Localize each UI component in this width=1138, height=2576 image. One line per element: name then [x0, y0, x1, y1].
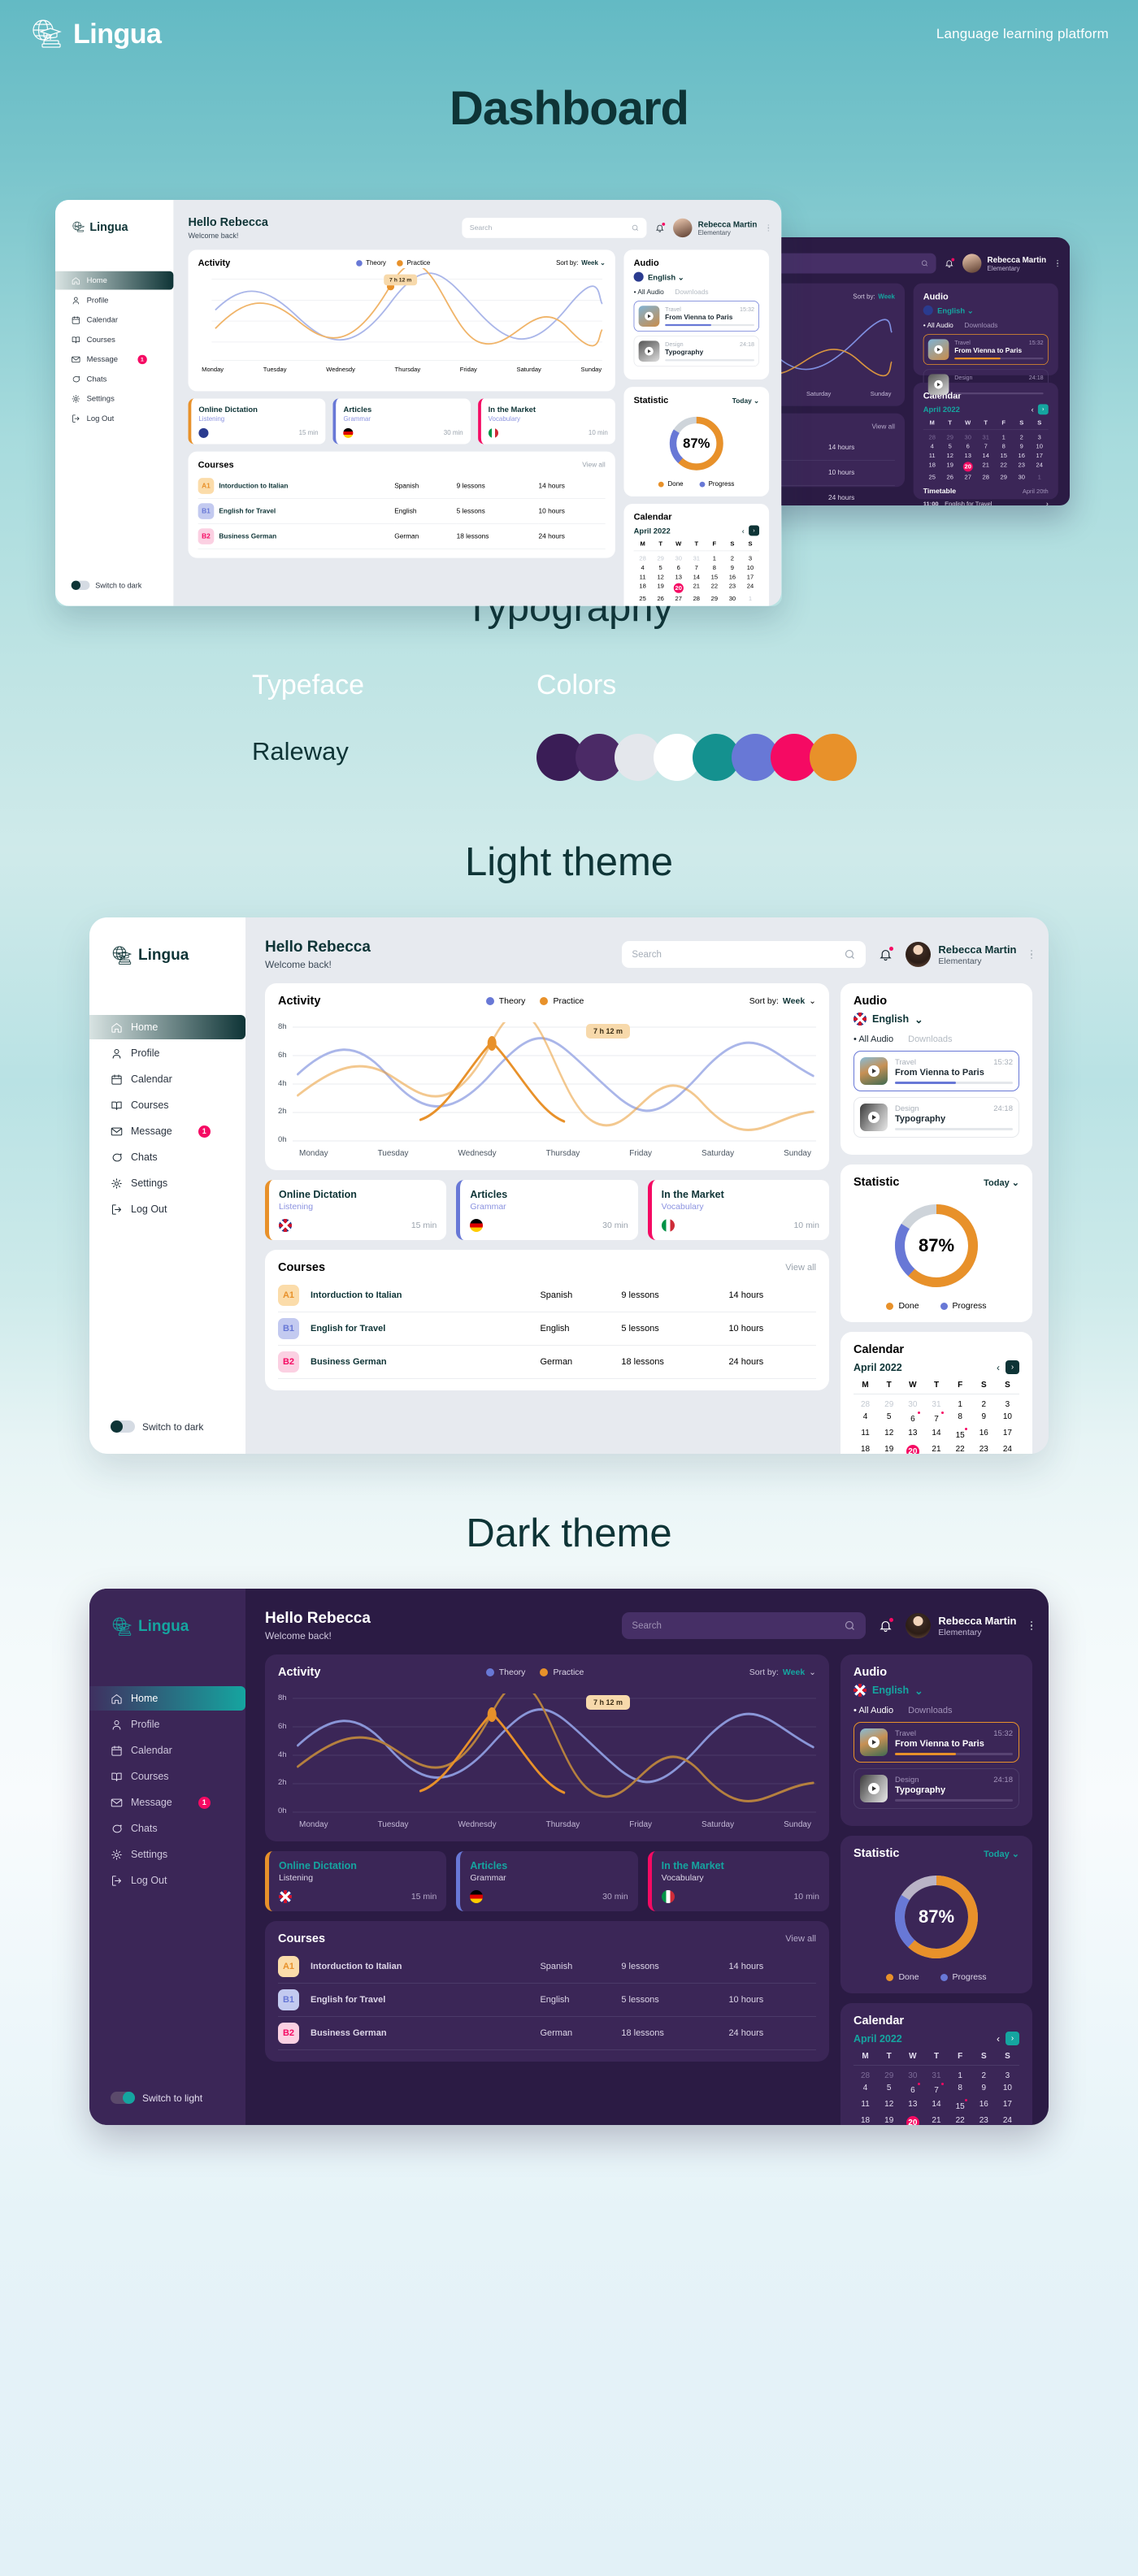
course-level-badge: B1 [278, 1318, 299, 1339]
calendar-day[interactable]: 7 [924, 2084, 948, 2097]
search-icon [844, 1620, 856, 1632]
audio-track[interactable]: Design24:18 Typography [853, 1768, 1019, 1809]
weekday-label: S [972, 1381, 996, 1394]
course-name: Intorduction to Italian [311, 1279, 540, 1312]
chat-icon [111, 1823, 123, 1835]
audio-card: Audio English ⌄ • All Audio Downloads [840, 983, 1032, 1155]
sidebar-item-profile[interactable]: Profile [55, 291, 173, 310]
calendar-day[interactable]: 19 [877, 1445, 901, 1454]
sidebar-item-label: Profile [87, 296, 109, 305]
tab-downloads[interactable]: Downloads [908, 1706, 952, 1715]
weekday-label: T [924, 2052, 948, 2066]
sidebar-item-settings[interactable]: Settings [55, 389, 173, 408]
task-card[interactable]: Articles Grammar 30 min [456, 1180, 637, 1240]
globe-books-logo-icon [111, 945, 132, 966]
avatar [906, 942, 931, 967]
sidebar-item-settings[interactable]: Settings [89, 1171, 245, 1195]
statistic-period[interactable]: Today ⌄ [984, 1177, 1019, 1188]
task-subtitle: Vocabulary [662, 1873, 819, 1883]
y-tick-8h: 8h [278, 1693, 287, 1702]
sidebar-item-label: Home [87, 276, 107, 285]
audio-language-value: English [872, 1685, 909, 1696]
colors-label: Colors [536, 670, 857, 701]
brand-name: Lingua [73, 19, 161, 50]
sidebar-item-calendar[interactable]: Calendar [89, 1738, 245, 1763]
track-thumbnail [860, 1104, 888, 1131]
statistic-title: Statistic [853, 1176, 899, 1189]
mail-icon [72, 354, 80, 363]
x-tick-6: Sunday [784, 1149, 811, 1158]
course-name: Business German [311, 2017, 540, 2050]
sort-by-label: Sort by: [749, 996, 779, 1006]
calendar-next-button[interactable]: › [1006, 1360, 1019, 1374]
course-hours: 14 hours [728, 1950, 816, 1984]
track-category: Travel [895, 1729, 916, 1738]
book-icon [72, 335, 80, 344]
play-icon[interactable] [868, 1065, 880, 1077]
calendar-day[interactable]: 9 [972, 1412, 996, 1425]
sidebar-item-label: Courses [131, 1099, 169, 1111]
track-progress[interactable] [895, 1753, 1013, 1755]
gear-icon [111, 1177, 123, 1190]
notification-bell[interactable] [879, 1619, 893, 1633]
sidebar-item-label: Calendar [87, 315, 118, 324]
calendar-day[interactable]: 16 [972, 1429, 996, 1442]
task-title: Online Dictation [279, 1189, 437, 1200]
sidebar-brand-name: Lingua [138, 947, 189, 965]
calendar-day[interactable]: 5 [877, 2084, 901, 2097]
course-level-badge: B2 [278, 2023, 299, 2044]
y-tick-6h: 6h [278, 1722, 287, 1731]
brand-logo[interactable]: Lingua [29, 18, 161, 50]
sidebar-item-message[interactable]: Message1 [55, 350, 173, 369]
calendar-day[interactable]: 14 [924, 1429, 948, 1442]
audio-language-select[interactable]: English ⌄ [853, 1684, 1019, 1697]
task-card[interactable]: In the Market Vocabulary 10 min [648, 1180, 829, 1240]
course-language: Spanish [540, 1950, 621, 1984]
task-title: In the Market [662, 1189, 819, 1200]
tab-downloads[interactable]: Downloads [908, 1034, 952, 1044]
sidebar-item-label: Home [131, 1021, 158, 1033]
task-duration: 15 min [411, 1892, 437, 1902]
x-tick-6: Sunday [784, 1820, 811, 1829]
courses-card: Courses View all A1 Intorduction to Ital… [265, 1250, 829, 1390]
y-tick-0h: 0h [278, 1135, 287, 1144]
calendar-day[interactable]: 16 [972, 2100, 996, 2113]
course-lessons: 9 lessons [621, 1279, 728, 1312]
weekday-label: S [996, 1381, 1019, 1394]
audio-track[interactable]: Travel15:32 From Vienna to Paris [853, 1051, 1019, 1091]
sort-by-control[interactable]: Sort by: Week ⌄ [749, 996, 816, 1006]
weekday-label: W [901, 2052, 924, 2066]
uk-flag-icon [279, 1890, 292, 1903]
dark-theme-dashboard: Lingua HomeProfileCalendarCoursesMessage… [89, 1589, 1049, 2125]
calendar-day[interactable]: 21 [924, 1445, 948, 1454]
calendar-day[interactable]: 11 [853, 2100, 877, 2113]
page-title: Dashboard [0, 81, 1138, 136]
calendar-day[interactable]: 21 [924, 2116, 948, 2125]
dark-theme-title: Dark theme [0, 1511, 1138, 1556]
sidebar-item-profile[interactable]: Profile [89, 1041, 245, 1065]
course-name: English for Travel [311, 1312, 540, 1346]
calendar-day[interactable]: 19 [877, 2116, 901, 2125]
calendar-day[interactable]: 13 [901, 2100, 924, 2113]
calendar-day[interactable]: 1 [949, 1400, 972, 1409]
theme-toggle[interactable] [111, 2092, 135, 2104]
calendar-day[interactable]: 7 [924, 1412, 948, 1425]
sidebar-item-label: Log Out [131, 1875, 167, 1886]
statistic-card: Statistic Today ⌄ 87% Don [840, 1836, 1032, 1993]
track-progress[interactable] [895, 1799, 1013, 1802]
task-subtitle: Grammar [470, 1873, 628, 1883]
y-tick-4h: 4h [278, 1750, 287, 1759]
main-content-dark: Hello Rebecca Welcome back! [245, 1589, 1049, 2125]
audio-language-select[interactable]: English ⌄ [853, 1013, 1019, 1026]
course-lessons: 5 lessons [621, 1312, 728, 1346]
logout-icon [111, 1203, 123, 1216]
y-tick-8h: 8h [278, 1022, 287, 1031]
sidebar-item-label: Settings [131, 1177, 167, 1189]
theme-switch-dark[interactable]: Switch to light [89, 2092, 245, 2125]
calendar-day[interactable]: 4 [853, 1412, 877, 1425]
calendar-day[interactable]: 30 [901, 1400, 924, 1409]
calendar-day[interactable]: 31 [924, 1400, 948, 1409]
table-row[interactable]: A1 Intorduction to Italian Spanish 9 les… [278, 1279, 816, 1312]
courses-card: Courses View all A1 Intorduction to Ital… [265, 1921, 829, 2062]
sidebar-logo[interactable]: Lingua [89, 1616, 245, 1637]
sidebar-item-log-out[interactable]: Log Out [89, 1868, 245, 1893]
calendar-day[interactable]: 3 [996, 2071, 1019, 2080]
chart-tooltip: 7 h 12 m [586, 1024, 630, 1039]
more-options-icon[interactable] [1031, 1621, 1033, 1631]
theme-switch-light[interactable]: Switch to dark [89, 1420, 245, 1454]
task-duration: 10 min [793, 1221, 819, 1230]
task-duration: 15 min [411, 1221, 437, 1230]
calendar-day[interactable]: 28 [853, 1400, 877, 1409]
calendar-day[interactable]: 23 [972, 2116, 996, 2125]
sidebar-item-chats[interactable]: Chats [55, 370, 173, 388]
calendar-day[interactable]: 15 [949, 1429, 972, 1442]
track-name: Typography [895, 1114, 1013, 1124]
calendar-day[interactable]: 14 [924, 2100, 948, 2113]
courses-view-all[interactable]: View all [785, 1263, 816, 1273]
courses-table: A1 Intorduction to Italian Spanish 9 les… [278, 1950, 816, 2050]
play-icon[interactable] [868, 1112, 880, 1123]
calendar-day[interactable]: 6 [901, 2084, 924, 2097]
track-name: Typography [895, 1785, 1013, 1795]
calendar-day[interactable]: 23 [972, 1445, 996, 1454]
chart-legend: Theory Practice [486, 996, 584, 1006]
table-row[interactable]: B1 English for Travel English 5 lessons … [278, 1984, 816, 2017]
uk-flag-icon [853, 1013, 867, 1026]
x-tick-1: Tuesday [378, 1820, 409, 1829]
sidebar-item-label: Courses [87, 336, 115, 345]
sidebar-item-label: Home [131, 1693, 158, 1704]
task-duration: 10 min [793, 1892, 819, 1902]
table-row[interactable]: B2 Business German German 18 lessons 24 … [278, 1346, 816, 1379]
legend-practice: Practice [540, 996, 584, 1006]
weekday-label: S [996, 2052, 1019, 2066]
calendar-day[interactable]: 5 [877, 1412, 901, 1425]
legend-progress: Progress [940, 1972, 987, 1982]
table-row[interactable]: B1 English for Travel English 5 lessons … [278, 1312, 816, 1346]
calendar-day[interactable]: 13 [901, 1429, 924, 1442]
calendar-day[interactable]: 2 [972, 1400, 996, 1409]
activity-title: Activity [278, 1666, 320, 1679]
calendar-day[interactable]: 17 [996, 1429, 1019, 1442]
track-thumbnail [860, 1775, 888, 1802]
play-icon[interactable] [868, 1737, 880, 1748]
calendar-icon [111, 1073, 123, 1086]
activity-card: Activity Theory Practice Sort by: Week ⌄ [265, 1654, 829, 1841]
play-icon[interactable] [868, 1783, 880, 1794]
x-tick-5: Saturday [701, 1149, 734, 1158]
track-category: Design [895, 1104, 919, 1113]
sidebar-item-home[interactable]: Home [89, 1015, 245, 1039]
statistic-title: Statistic [853, 1847, 899, 1860]
calendar-day[interactable]: 18 [853, 1445, 877, 1454]
globe-books-logo-icon [111, 1616, 132, 1637]
user-icon [111, 1719, 123, 1731]
track-progress[interactable] [895, 1082, 1013, 1084]
track-category: Travel [895, 1058, 916, 1067]
sidebar-item-courses[interactable]: Courses [89, 1093, 245, 1117]
track-name: From Vienna to Paris [895, 1068, 1013, 1078]
search-input[interactable] [632, 1621, 839, 1631]
theme-switch-label: Switch to light [142, 2092, 202, 2104]
sidebar-item-home[interactable]: Home [55, 271, 173, 290]
sidebar-item-settings[interactable]: Settings [89, 1842, 245, 1867]
task-subtitle: Listening [279, 1873, 437, 1883]
sidebar-item-calendar[interactable]: Calendar [89, 1067, 245, 1091]
course-name: Business German [311, 1346, 540, 1379]
track-thumbnail [860, 1057, 888, 1085]
greeting: Hello Rebecca [265, 1610, 371, 1628]
course-level-badge: A1 [278, 1956, 299, 1977]
user-icon [111, 1047, 123, 1060]
activity-line-chart [293, 1022, 816, 1144]
mockup-collage: Lingua HomeProfileCalendarCoursesMessage… [0, 187, 1138, 577]
sidebar-logo[interactable]: Lingua [89, 945, 245, 966]
calendar-day[interactable]: 1 [949, 2071, 972, 2080]
tab-all-audio[interactable]: • All Audio [853, 1706, 893, 1715]
x-tick-1: Tuesday [378, 1149, 409, 1158]
course-lessons: 5 lessons [621, 1984, 728, 2017]
book-icon [111, 1099, 123, 1112]
course-hours: 14 hours [728, 1279, 816, 1312]
sort-by-label: Sort by: [749, 1667, 779, 1677]
y-tick-4h: 4h [278, 1079, 287, 1088]
calendar-grid: M T W T F S S 28293031123 45678910 11121… [853, 2052, 1019, 2125]
task-card[interactable]: Online Dictation Listening 15 min [265, 1180, 446, 1240]
user-profile[interactable]: Rebecca Martin Elementary [906, 1613, 1032, 1638]
book-icon [111, 1771, 123, 1783]
calendar-day[interactable]: 15 [949, 2100, 972, 2113]
x-tick-3: Thursday [546, 1149, 580, 1158]
sidebar-nav-dark: HomeProfileCalendarCoursesMessage1ChatsS… [89, 1686, 245, 1893]
avatar [906, 1613, 931, 1638]
calendar-day[interactable]: 30 [901, 2071, 924, 2080]
calendar-day[interactable]: 10 [996, 1412, 1019, 1425]
user-name: Rebecca Martin [938, 1615, 1016, 1627]
sidebar-item-label: Chats [131, 1151, 158, 1163]
swatch-7 [810, 734, 857, 781]
calendar-day[interactable]: 24 [996, 1445, 1019, 1454]
calendar-day[interactable]: 28 [853, 2071, 877, 2080]
sort-by-control[interactable]: Sort by: Week ⌄ [749, 1667, 816, 1677]
calendar-month: April 2022 [853, 2033, 902, 2045]
germany-flag-icon [470, 1890, 483, 1903]
x-tick-4: Friday [629, 1820, 652, 1829]
course-lessons: 9 lessons [621, 1950, 728, 1984]
statistic-value: 87% [919, 1235, 954, 1256]
x-tick-2: Wednesdy [458, 1820, 497, 1829]
task-title: Articles [470, 1189, 628, 1200]
calendar-day[interactable]: 17 [996, 2100, 1019, 2113]
calendar-next-button[interactable]: › [1006, 2032, 1019, 2045]
user-icon [72, 296, 80, 305]
user-level: Elementary [938, 1628, 1016, 1637]
uk-flag-icon [853, 1684, 867, 1697]
calendar-day-selected[interactable]: 20 [901, 1445, 924, 1454]
user-name: Rebecca Martin [938, 943, 1016, 956]
calendar-day[interactable]: 12 [877, 1429, 901, 1442]
globe-books-logo-icon [72, 221, 85, 235]
sidebar-item-chats[interactable]: Chats [89, 1145, 245, 1169]
track-name: From Vienna to Paris [895, 1739, 1013, 1749]
track-thumbnail [860, 1728, 888, 1756]
calendar-day[interactable]: 24 [996, 2116, 1019, 2125]
course-language: English [540, 1312, 621, 1346]
gear-icon [72, 394, 80, 403]
calendar-grid: M T W T F S S 28293031123 45678910 11121… [853, 1381, 1019, 1454]
table-row[interactable]: B2 Business German German 18 lessons 24 … [278, 2017, 816, 2050]
theme-toggle[interactable] [111, 1420, 135, 1433]
course-level-badge: A1 [278, 1285, 299, 1306]
sidebar-item-chats[interactable]: Chats [89, 1816, 245, 1841]
track-duration: 15:32 [993, 1729, 1013, 1738]
more-options-icon[interactable] [1031, 950, 1033, 960]
course-name: English for Travel [311, 1984, 540, 2017]
typography-section: Typography Typeface Raleway Colors [0, 577, 1138, 781]
course-language: Spanish [540, 1279, 621, 1312]
calendar-day[interactable]: 18 [853, 2116, 877, 2125]
x-tick-0: Monday [299, 1820, 328, 1829]
sidebar-item-profile[interactable]: Profile [89, 1712, 245, 1737]
audio-language-value: English [872, 1013, 909, 1025]
calendar-day[interactable]: 29 [877, 1400, 901, 1409]
chevron-down-icon: ⌄ [809, 996, 816, 1006]
sidebar-dark: Lingua HomeProfileCalendarCoursesMessage… [89, 1589, 245, 2125]
calendar-prev-button[interactable]: ‹ [997, 1362, 1000, 1373]
chevron-down-icon: ⌄ [1012, 1178, 1019, 1188]
sidebar: Lingua HomeProfileCalendarCoursesMessage… [89, 917, 245, 1454]
sidebar-item-courses[interactable]: Courses [55, 330, 173, 349]
activity-line-chart [293, 1693, 816, 1815]
calendar-prev-button[interactable]: ‹ [997, 2033, 1000, 2045]
calendar-day-selected[interactable]: 20 [901, 2116, 924, 2125]
greeting: Hello Rebecca [265, 939, 371, 956]
course-lessons: 18 lessons [621, 2017, 728, 2050]
audio-card: Audio English ⌄ • All Audio Downloads [840, 1654, 1032, 1826]
task-card[interactable]: Articles Grammar 30 min [456, 1851, 637, 1911]
track-duration: 15:32 [993, 1058, 1013, 1067]
sidebar-item-log-out[interactable]: Log Out [55, 409, 173, 427]
audio-track[interactable]: Travel15:32 From Vienna to Paris [853, 1722, 1019, 1763]
calendar-day[interactable]: 8 [949, 2084, 972, 2097]
sort-by-value: Week [783, 996, 805, 1006]
calendar-card: Calendar April 2022 ‹ › M T W [840, 2003, 1032, 2125]
activity-card: Activity Theory Practice Sort by: Week ⌄ [265, 983, 829, 1170]
track-progress[interactable] [895, 1128, 1013, 1130]
calendar-day[interactable]: 4 [853, 2084, 877, 2097]
search-icon [921, 259, 929, 267]
statistic-value: 87% [919, 1906, 954, 1928]
audio-track[interactable]: Design24:18 Typography [853, 1097, 1019, 1138]
sidebar-item-calendar[interactable]: Calendar [55, 310, 173, 329]
tab-all-audio[interactable]: • All Audio [853, 1034, 893, 1044]
x-tick-0: Monday [299, 1149, 328, 1158]
statistic-period[interactable]: Today ⌄ [984, 1849, 1019, 1859]
calendar-day[interactable]: 29 [877, 2071, 901, 2080]
notification-dot [889, 1618, 893, 1622]
message-badge: 1 [198, 1125, 211, 1138]
course-lessons: 18 lessons [621, 1346, 728, 1379]
task-card[interactable]: In the Market Vocabulary 10 min [648, 1851, 829, 1911]
chevron-down-icon: ⌄ [914, 1013, 923, 1026]
courses-view-all[interactable]: View all [785, 1934, 816, 1944]
sidebar-item-label: Profile [131, 1047, 159, 1059]
sidebar-item-courses[interactable]: Courses [89, 1764, 245, 1789]
search-input[interactable] [632, 950, 839, 960]
sidebar-item-label: Calendar [131, 1745, 172, 1756]
user-profile[interactable]: Rebecca Martin Elementary [906, 942, 1032, 967]
track-category: Design [895, 1776, 919, 1785]
calendar-day[interactable]: 31 [924, 2071, 948, 2080]
task-card[interactable]: Online Dictation Listening 15 min [265, 1851, 446, 1911]
calendar-day[interactable]: 22 [949, 2116, 972, 2125]
table-row[interactable]: A1 Intorduction to Italian Spanish 9 les… [278, 1950, 816, 1984]
sidebar-nav: HomeProfileCalendarCoursesMessage1ChatsS… [89, 1015, 245, 1221]
course-language: English [540, 1984, 621, 2017]
course-language: German [540, 2017, 621, 2050]
sidebar-item-label: Chats [131, 1823, 158, 1834]
notification-bell[interactable] [879, 948, 893, 961]
calendar-day[interactable]: 10 [996, 2084, 1019, 2097]
calendar-title: Calendar [853, 1343, 1019, 1356]
germany-flag-icon [470, 1219, 483, 1232]
search-box[interactable] [622, 1612, 866, 1639]
chevron-down-icon: ⌄ [1012, 1850, 1019, 1859]
search-box[interactable] [622, 941, 866, 968]
calendar-day[interactable]: 8 [949, 1412, 972, 1425]
calendar-day[interactable]: 12 [877, 2100, 901, 2113]
calendar-day[interactable]: 11 [853, 1429, 877, 1442]
calendar-day[interactable]: 3 [996, 1400, 1019, 1409]
calendar-day[interactable]: 2 [972, 2071, 996, 2080]
calendar-day[interactable]: 22 [949, 1445, 972, 1454]
sidebar-item-log-out[interactable]: Log Out [89, 1197, 245, 1221]
sidebar-item-home[interactable]: Home [89, 1686, 245, 1711]
sidebar-item-message[interactable]: Message1 [89, 1119, 245, 1143]
sidebar-item-message[interactable]: Message1 [89, 1790, 245, 1815]
gear-icon [111, 1849, 123, 1861]
chevron-down-icon: ⌄ [914, 1685, 923, 1697]
calendar-day[interactable]: 6 [901, 1412, 924, 1425]
weekday-label: T [924, 1381, 948, 1394]
calendar-day[interactable]: 9 [972, 2084, 996, 2097]
courses-title: Courses [278, 1932, 325, 1945]
